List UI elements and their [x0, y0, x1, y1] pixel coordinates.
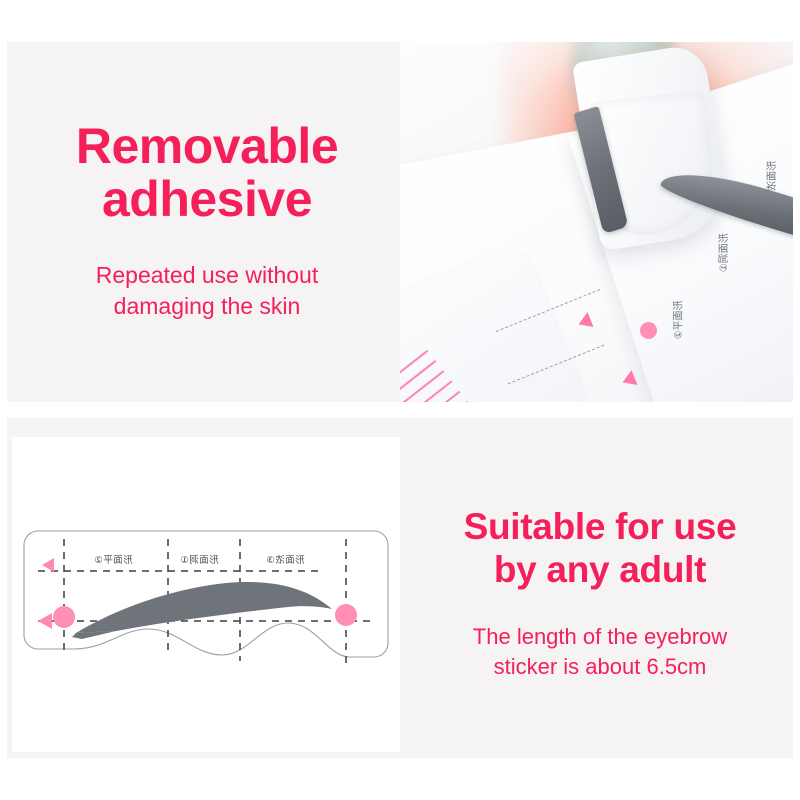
photo-label-1: 形面洞① — [715, 233, 730, 272]
top-panel-subtext: Repeated use without damaging the skin — [7, 260, 407, 322]
stencil-label-1: 形面洞① — [180, 552, 219, 566]
stencil-svg — [20, 525, 392, 695]
photo-marker-dot — [640, 322, 657, 339]
stencil-label-2: 形面平② — [94, 552, 133, 566]
bottom-subtext-line-2: sticker is about 6.5cm — [407, 652, 793, 682]
bottom-subtext-line-1: The length of the eyebrow — [407, 622, 793, 652]
marker-dot-left — [53, 606, 75, 628]
bottom-panel-copy: Suitable for use by any adult The length… — [407, 418, 793, 758]
marker-dot-right — [335, 604, 357, 626]
panel-removable-adhesive: Removable adhesive Repeated use without … — [7, 42, 793, 402]
photo-label-2: 形面平② — [670, 301, 685, 340]
top-subtext-line-2: damaging the skin — [7, 291, 407, 322]
bottom-headline-line-1: Suitable for use — [407, 506, 793, 549]
bottom-headline-line-2: by any adult — [407, 549, 793, 592]
eyebrow-sticker-sheet-peeling-photo: 形面平② 形面洞① 形面浓③ — [400, 42, 793, 402]
top-headline-line-1: Removable — [7, 120, 407, 173]
stencil-illustration-card: 形面平② 形面洞① 形面浓③ — [12, 437, 400, 752]
top-headline-line-2: adhesive — [7, 173, 407, 226]
bottom-panel-headline: Suitable for use by any adult — [407, 506, 793, 592]
top-subtext-line-1: Repeated use without — [7, 260, 407, 291]
top-panel-copy: Removable adhesive Repeated use without … — [7, 42, 407, 402]
eyebrow-stencil-template-diagram: 形面平② 形面洞① 形面浓③ — [20, 525, 392, 695]
bottom-panel-subtext: The length of the eyebrow sticker is abo… — [407, 622, 793, 683]
panel-suitable-for-any-adult: 形面平② 形面洞① 形面浓③ Suitable for use by any a… — [7, 418, 793, 758]
stencil-label-3: 形面浓③ — [266, 552, 305, 566]
top-panel-headline: Removable adhesive — [7, 120, 407, 226]
product-infographic: Removable adhesive Repeated use without … — [0, 0, 800, 800]
